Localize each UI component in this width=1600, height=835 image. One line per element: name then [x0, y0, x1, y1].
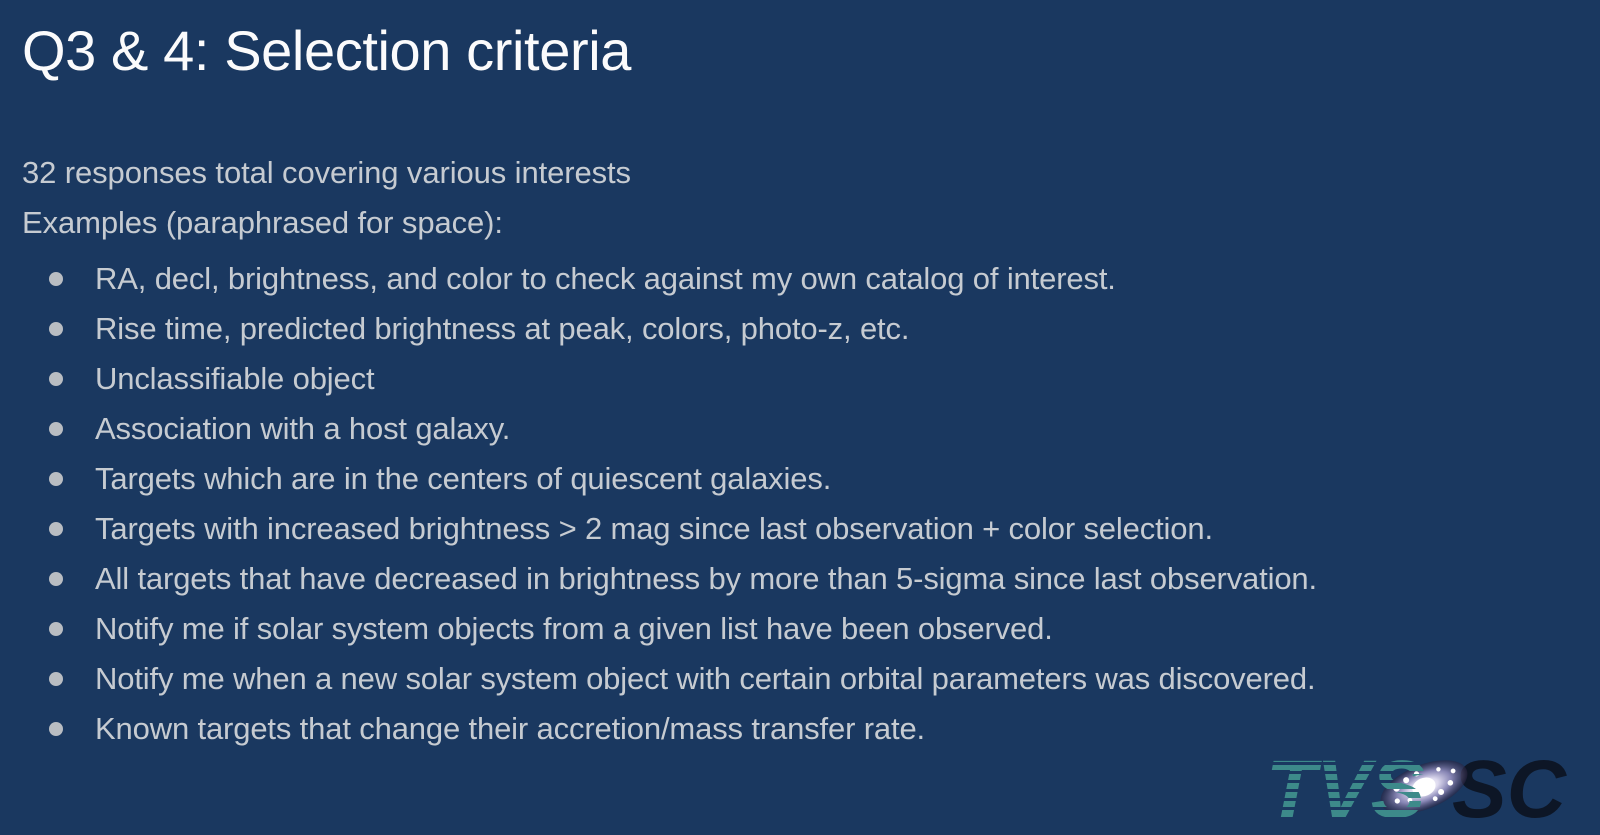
bullet-dot-icon [49, 372, 63, 386]
bullet-dot-icon [49, 422, 63, 436]
svg-text:TVS: TVS [1266, 744, 1425, 829]
logo-sc-text: SC [1452, 744, 1568, 829]
list-item-label: Targets which are in the centers of quie… [95, 454, 831, 504]
criteria-list: RA, decl, brightness, and color to check… [22, 254, 1578, 754]
list-item: All targets that have decreased in brigh… [22, 554, 1578, 604]
tvssc-logo: SC TVS [1256, 729, 1586, 829]
lead-line-examples: Examples (paraphrased for space): [22, 198, 1578, 248]
list-item: Unclassifiable object [22, 354, 1578, 404]
list-item-label: Notify me when a new solar system object… [95, 654, 1315, 704]
list-item: Notify me if solar system objects from a… [22, 604, 1578, 654]
list-item: RA, decl, brightness, and color to check… [22, 254, 1578, 304]
slide-body: 32 responses total covering various inte… [22, 148, 1578, 754]
list-item: Targets with increased brightness > 2 ma… [22, 504, 1578, 554]
bullet-dot-icon [49, 622, 63, 636]
slide-canvas: Q3 & 4: Selection criteria 32 responses … [0, 0, 1600, 835]
list-item-label: Known targets that change their accretio… [95, 704, 925, 754]
list-item: Notify me when a new solar system object… [22, 654, 1578, 704]
bullet-dot-icon [49, 272, 63, 286]
list-item: Association with a host galaxy. [22, 404, 1578, 454]
list-item-label: Rise time, predicted brightness at peak,… [95, 304, 909, 354]
logo-tvs-text: TVS [1266, 744, 1425, 829]
bullet-dot-icon [49, 522, 63, 536]
svg-text:SC: SC [1452, 744, 1568, 829]
bullet-dot-icon [49, 672, 63, 686]
list-item-label: Notify me if solar system objects from a… [95, 604, 1053, 654]
bullet-dot-icon [49, 322, 63, 336]
list-item-label: Targets with increased brightness > 2 ma… [95, 504, 1213, 554]
lead-line-responses: 32 responses total covering various inte… [22, 148, 1578, 198]
list-item: Rise time, predicted brightness at peak,… [22, 304, 1578, 354]
list-item-label: Association with a host galaxy. [95, 404, 510, 454]
bullet-dot-icon [49, 722, 63, 736]
bullet-dot-icon [49, 472, 63, 486]
list-item-label: All targets that have decreased in brigh… [95, 554, 1317, 604]
list-item-label: RA, decl, brightness, and color to check… [95, 254, 1116, 304]
page-title: Q3 & 4: Selection criteria [22, 20, 631, 83]
list-item: Targets which are in the centers of quie… [22, 454, 1578, 504]
list-item-label: Unclassifiable object [95, 354, 374, 404]
bullet-dot-icon [49, 572, 63, 586]
